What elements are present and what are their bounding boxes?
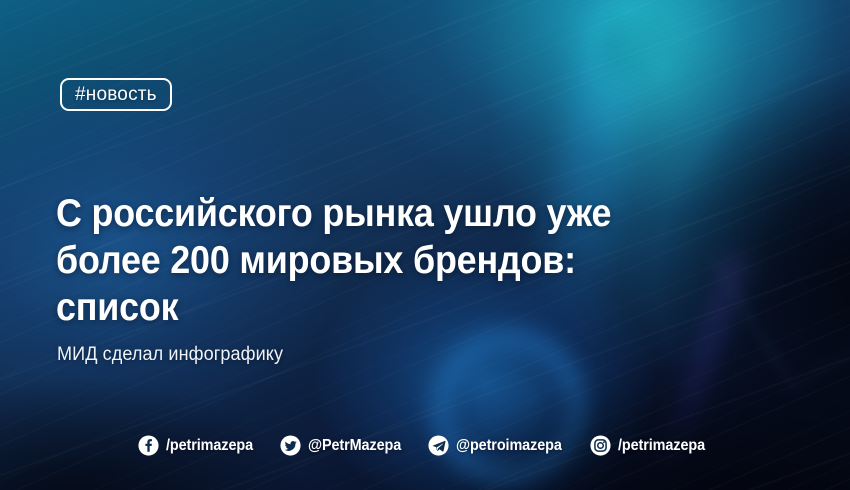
headline: С российского рынка ушло уже более 200 м… <box>56 190 700 331</box>
social-link-facebook[interactable]: /petrimazepa <box>138 435 260 456</box>
facebook-icon <box>138 435 159 456</box>
social-link-instagram[interactable]: /petrimazepa <box>590 435 712 456</box>
telegram-icon <box>428 435 449 456</box>
instagram-icon <box>590 435 611 456</box>
social-link-twitter[interactable]: @PetrMazepa <box>280 435 408 456</box>
social-links: /petrimazepa @PetrMazepa @petroimazepa <box>0 435 850 456</box>
social-handle: /petrimazepa <box>618 437 705 455</box>
twitter-icon <box>280 435 301 456</box>
social-handle: @petroimazepa <box>456 437 562 455</box>
subtitle: МИД сделал инфографику <box>57 343 283 367</box>
category-badge[interactable]: #новость <box>60 78 172 111</box>
social-handle: /petrimazepa <box>166 437 253 455</box>
social-link-telegram[interactable]: @petroimazepa <box>428 435 570 456</box>
social-handle: @PetrMazepa <box>308 437 401 455</box>
card-content: #новость С российского рынка ушло уже бо… <box>0 0 850 490</box>
news-card: #новость С российского рынка ушло уже бо… <box>0 0 850 490</box>
